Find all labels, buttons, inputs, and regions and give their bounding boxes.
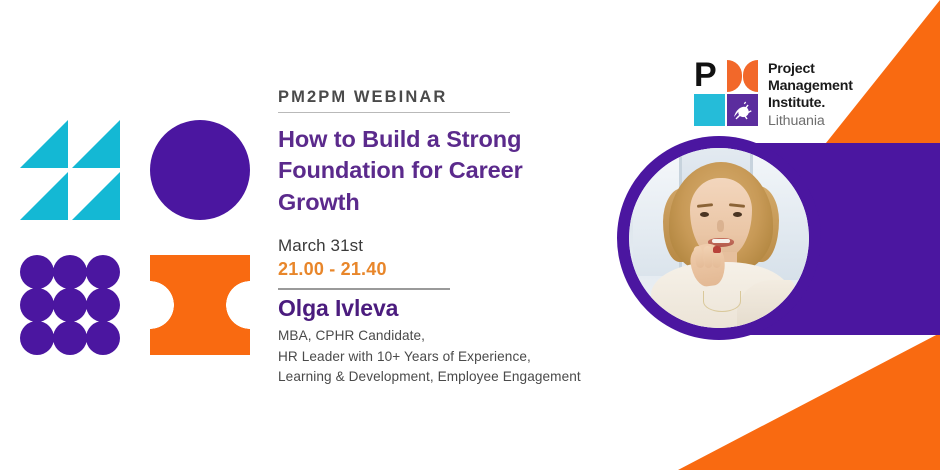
credential-line: MBA, CPHR Candidate,: [278, 326, 581, 347]
speaker-divider: [278, 288, 450, 290]
speaker-photo-illustration: [629, 148, 809, 328]
pmi-bowtie-icon: [694, 94, 725, 126]
pmi-text-line1: Project: [768, 61, 853, 78]
event-date: March 31st: [278, 236, 363, 256]
webinar-promo-poster: PM2PM WEBINAR How to Build a Strong Foun…: [0, 0, 940, 470]
pmi-logo-mark: P: [694, 60, 758, 126]
pmi-letter-p: P: [694, 60, 725, 92]
orange-concave-square-shape: [150, 255, 250, 355]
avatar: [629, 148, 809, 328]
purple-dot-grid-shape: [20, 255, 120, 355]
orange-corner-wedge-bottom: [678, 333, 940, 470]
speaker-name: Olga Ivleva: [278, 295, 398, 322]
eyebrow-label: PM2PM WEBINAR: [278, 88, 447, 107]
pmi-text-line2: Management: [768, 78, 853, 95]
speaker-credentials: MBA, CPHR Candidate, HR Leader with 10+ …: [278, 326, 581, 388]
pmi-logo: P Project Managemen: [694, 60, 853, 130]
page-title: How to Build a Strong Foundation for Car…: [278, 124, 578, 218]
pmi-letter-p-tile: P: [694, 60, 725, 92]
event-time: 21.00 - 21.40: [278, 259, 387, 280]
speaker-portrait-ring: [617, 136, 821, 340]
pmi-logo-text: Project Management Institute. Lithuania: [768, 60, 853, 130]
pmi-butterfly-m-icon: [727, 60, 758, 92]
vytis-horseman-icon: [727, 94, 758, 126]
pmi-text-line3: Institute.: [768, 95, 853, 112]
pmi-chapter-name: Lithuania: [768, 113, 853, 130]
purple-double-semicircle-shape: [150, 120, 250, 220]
eyebrow-divider: [278, 112, 510, 113]
credential-line: Learning & Development, Employee Engagem…: [278, 367, 581, 388]
cyan-triangle-grid-shape: [20, 120, 120, 220]
credential-line: HR Leader with 10+ Years of Experience,: [278, 347, 581, 368]
